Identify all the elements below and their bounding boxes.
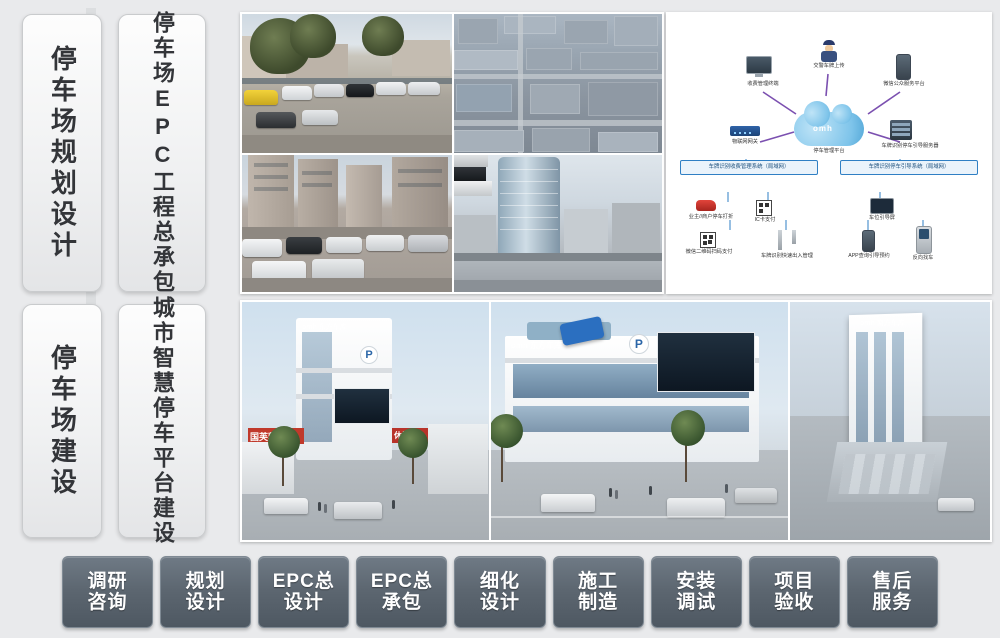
step-line-1: EPC总 <box>273 571 335 592</box>
node-parking-management-platform: 停车管理平台 <box>798 147 860 155</box>
left-card-column: 停车场规划设计 停车场EPC工程总承包 停车场建设 城市智慧停车平台建设 <box>18 8 218 538</box>
police-officer-icon <box>820 40 838 62</box>
node-resident-parking-card: 业主//商户停车打折 <box>680 213 742 221</box>
node-traffic-police-upload: 交警车牌上传 <box>798 62 860 70</box>
step-line-1: 施工 <box>578 571 618 592</box>
slide-root: 停车场规划设计 停车场EPC工程总承包 停车场建设 城市智慧停车平台建设 <box>0 0 1000 638</box>
rendering-logo: omh 南方车库 <box>860 318 905 328</box>
node-app-query-booking: APP查询引导预约 <box>838 252 900 260</box>
process-step-epc-general-contracting[interactable]: EPC总承包 <box>356 556 447 628</box>
camera-pole-icon <box>792 230 796 244</box>
project-photos-panel <box>240 12 664 294</box>
node-charge-management-terminal: 收费管理终端 <box>732 80 794 88</box>
parking-p-sign: P <box>629 334 649 354</box>
photo-surface-parking-lot <box>242 14 452 153</box>
process-step-after-sales-service[interactable]: 售后服务 <box>847 556 938 628</box>
cloud-logo-label: omh <box>813 124 833 133</box>
process-step-planning-design[interactable]: 规划设计 <box>160 556 251 628</box>
step-line-2: 服务 <box>872 592 912 613</box>
monitor-icon <box>746 56 772 77</box>
process-step-installation-commissioning[interactable]: 安装调试 <box>651 556 742 628</box>
step-line-1: 安装 <box>676 571 716 592</box>
card-label: 城市智慧停车平台建设 <box>149 296 175 546</box>
step-line-1: EPC总 <box>371 571 433 592</box>
card-label: 停车场建设 <box>47 344 78 499</box>
process-step-epc-general-design[interactable]: EPC总设计 <box>258 556 349 628</box>
qr-code-icon <box>700 232 716 248</box>
photo-aerial-city-view <box>452 14 662 153</box>
step-line-1: 规划 <box>186 571 226 592</box>
parking-p-sign: P <box>360 346 378 364</box>
node-lpr-guidance-server: 车牌识别停车引导服务器 <box>870 142 950 150</box>
group-lpr-guidance-system: 车牌识别停车引导系统（局域网） <box>840 160 978 175</box>
step-line-1: 售后 <box>872 571 912 592</box>
process-step-project-acceptance[interactable]: 项目验收 <box>749 556 840 628</box>
card-label: 停车场EPC工程总承包 <box>149 11 175 295</box>
node-parking-space-guide-screen: 车位引导屏 <box>851 214 913 222</box>
sidebar-card-city-smart-parking-platform[interactable]: 城市智慧停车平台建设 <box>118 304 206 538</box>
process-step-bar: 调研咨询 规划设计 EPC总设计 EPC总承包 细化设计 施工制造 安装调试 项… <box>62 556 938 628</box>
renderings-panel: omh 东方车库 P 国芙蓉 休闲驿 <box>240 300 992 542</box>
rendering-divider-2 <box>788 302 790 540</box>
rendering-logo: omh 东方车库 <box>511 340 562 351</box>
process-step-detailed-design[interactable]: 细化设计 <box>454 556 545 628</box>
step-line-2: 咨询 <box>88 592 128 613</box>
node-wechat-qr-payment: 微信二维码扫码支付 <box>678 248 740 256</box>
step-line-2: 设计 <box>480 592 520 613</box>
process-step-construction-manufacturing[interactable]: 施工制造 <box>553 556 644 628</box>
photo-residential-parking <box>242 153 452 292</box>
step-line-2: 验收 <box>774 592 814 613</box>
node-reverse-car-finding: 反向找车 <box>892 254 954 262</box>
rendering-divider-1 <box>489 302 491 540</box>
sidebar-card-parking-construction[interactable]: 停车场建设 <box>22 304 102 538</box>
group-lpr-charging-system: 车牌识别收费管理系统（局域网） <box>680 160 818 175</box>
step-line-2: 承包 <box>382 592 422 613</box>
photo-glass-office-tower <box>452 153 662 292</box>
node-wechat-public-service: 微信公众服务平台 <box>873 80 935 88</box>
node-lpr-fast-entry-exit: 车牌识别快速出入管理 <box>756 252 818 260</box>
smartphone-icon <box>896 54 911 80</box>
step-line-1: 调研 <box>88 571 128 592</box>
step-line-2: 调试 <box>676 592 716 613</box>
rendering-parking-building: omh 东方车库 P <box>489 302 788 540</box>
find-car-kiosk-icon <box>916 226 932 254</box>
step-line-2: 设计 <box>284 592 324 613</box>
step-line-2: 设计 <box>186 592 226 613</box>
step-line-1: 细化 <box>480 571 520 592</box>
step-line-1: 项目 <box>774 571 814 592</box>
step-line-2: 制造 <box>578 592 618 613</box>
app-phone-icon <box>862 230 875 252</box>
billboard-screen <box>657 332 755 392</box>
guide-screen-icon <box>870 198 894 214</box>
sidebar-card-parking-epc-general-contracting[interactable]: 停车场EPC工程总承包 <box>118 14 206 292</box>
sidebar-card-parking-planning-design[interactable]: 停车场规划设计 <box>22 14 102 292</box>
car-icon <box>696 200 716 211</box>
rendering-tower-street: omh 东方车库 P 国芙蓉 休闲驿 <box>242 302 489 540</box>
guidance-server-icon <box>890 120 912 140</box>
card-label: 停车场规划设计 <box>47 45 78 262</box>
process-step-research-consulting[interactable]: 调研咨询 <box>62 556 153 628</box>
rendering-aerial-tower: omh 南方车库 <box>788 302 990 540</box>
photo-divider-vertical <box>452 14 454 292</box>
node-iot-gateway: 物联网网关 <box>714 138 776 146</box>
node-ic-card-payment: IC卡支付 <box>734 216 796 224</box>
ic-card-icon <box>756 200 772 216</box>
system-architecture-diagram: omh 收费管理终端 交警车牌上传 微信公众服务平台 <box>666 12 992 294</box>
iot-gateway-icon <box>730 126 760 136</box>
rendering-logo: omh 东方车库 <box>302 322 347 332</box>
barrier-gate-icon <box>778 230 782 250</box>
billboard-screen <box>334 388 390 424</box>
